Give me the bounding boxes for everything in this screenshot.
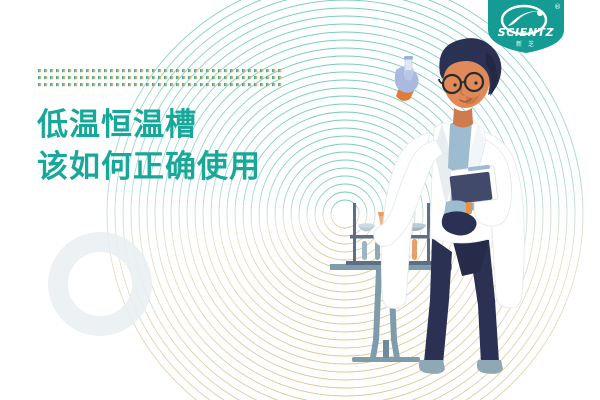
- shirt: [448, 120, 474, 213]
- dot-grid-decoration: [38, 69, 282, 91]
- clipboard: [449, 165, 497, 205]
- banner-root: 低温恒温槽 该如何正确使用: [0, 0, 600, 400]
- test-tube-rack: [346, 203, 436, 265]
- glasses-icon: [439, 73, 483, 93]
- raised-arm: [374, 56, 443, 247]
- svg-text:®: ®: [554, 3, 561, 11]
- brand-logo[interactable]: ® SCIENTZ 新 芝: [484, 0, 568, 54]
- lab-coat: [381, 120, 524, 308]
- scientist-illustration: [0, 0, 600, 400]
- lab-table: [330, 264, 452, 362]
- headline-line-1: 低温恒温槽: [37, 104, 367, 146]
- concentric-arcs-background: [0, 0, 600, 400]
- clipboard-arm: [442, 140, 512, 236]
- page-title: 低温恒温槽 该如何正确使用: [37, 104, 367, 188]
- scientist-legs: [419, 238, 503, 374]
- shield-icon: ®: [484, 0, 568, 54]
- headline-line-2: 该如何正确使用: [37, 146, 367, 188]
- decorative-ring: [48, 232, 152, 336]
